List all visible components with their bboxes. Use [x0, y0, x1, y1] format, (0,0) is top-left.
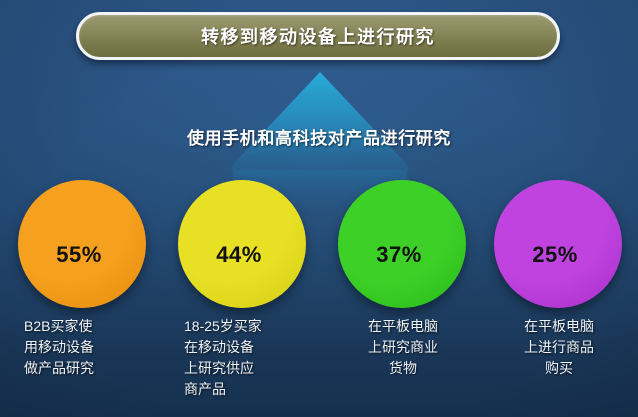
caption-tablet-purchase: 在平板电脑 上进行商品 购买 [494, 316, 624, 379]
bubble-percent-0: 55% [56, 242, 102, 268]
title-banner: 转移到移动设备上进行研究 [76, 12, 560, 60]
bubble-b2b-mobile-research[interactable]: 55% [18, 180, 146, 308]
slide-canvas: 转移到移动设备上进行研究 使用手机和高科技对产品进行研究 55% 44% 37%… [0, 0, 638, 417]
caption-b2b-mobile-research: B2B买家使 用移动设备 做产品研究 [24, 316, 164, 379]
subtitle-text: 使用手机和高科技对产品进行研究 [0, 124, 638, 149]
caption-row: B2B买家使 用移动设备 做产品研究 18-25岁买家 在移动设备 上研究供应 … [0, 316, 638, 417]
bubble-row: 55% 44% 37% 25% [0, 180, 638, 312]
page-title: 转移到移动设备上进行研究 [201, 23, 435, 49]
bubble-young-buyers-supplier-research[interactable]: 44% [178, 180, 306, 308]
bubble-percent-1: 44% [216, 242, 262, 268]
bubble-percent-3: 25% [532, 242, 578, 268]
bubble-percent-2: 37% [376, 242, 422, 268]
bubble-tablet-purchase[interactable]: 25% [494, 180, 622, 308]
caption-tablet-business-goods-research: 在平板电脑 上研究商业 货物 [338, 316, 468, 379]
caption-young-buyers-supplier-research: 18-25岁买家 在移动设备 上研究供应 商产品 [184, 316, 326, 400]
bubble-tablet-business-goods-research[interactable]: 37% [338, 180, 466, 308]
